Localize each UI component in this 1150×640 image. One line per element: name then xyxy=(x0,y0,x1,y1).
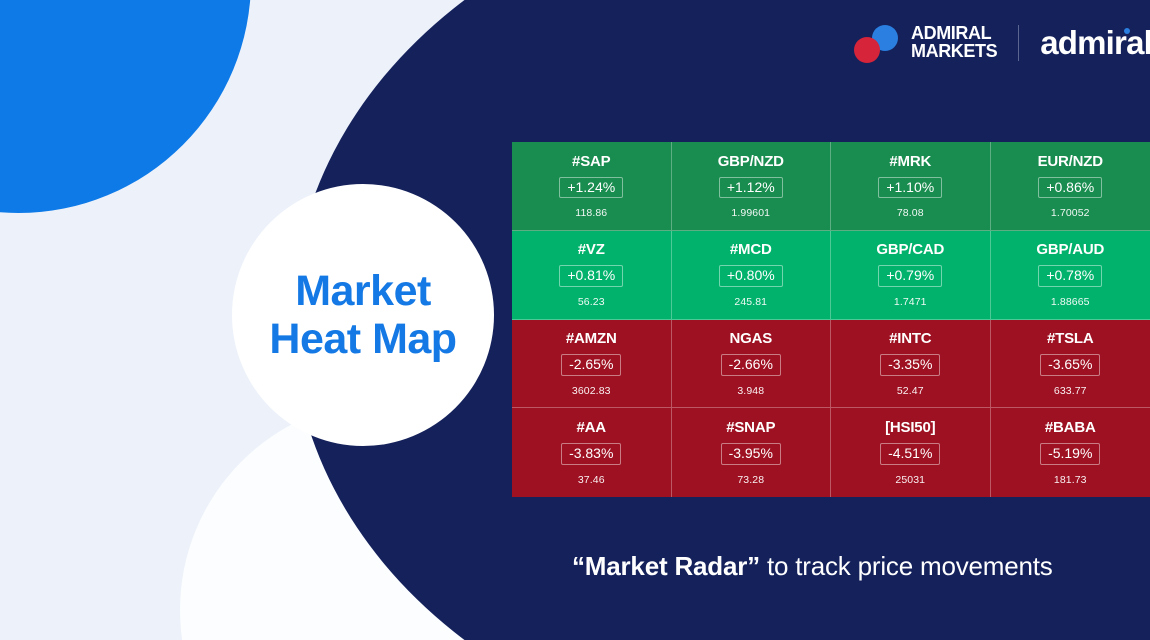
heatmap-cell-change-badge: -3.65% xyxy=(1040,354,1100,376)
heatmap-cell-symbol: GBP/AUD xyxy=(1036,241,1104,258)
caption: “Market Radar” to track price movements xyxy=(572,551,1053,582)
heatmap-cell-symbol: #MRK xyxy=(889,153,931,170)
heatmap-cell[interactable]: GBP/AUD+0.78%1.88665 xyxy=(991,231,1150,320)
heatmap-cell-symbol: #SNAP xyxy=(726,419,775,436)
logo-line-2: MARKETS xyxy=(911,41,997,61)
heatmap-cell-price: 73.28 xyxy=(737,474,764,486)
heatmap-cell-change-badge: -4.51% xyxy=(880,443,940,465)
heatmap-cell-price: 181.73 xyxy=(1054,474,1087,486)
heatmap-cell-price: 1.70052 xyxy=(1051,207,1090,219)
heatmap-cell-price: 3.948 xyxy=(737,385,764,397)
heatmap-cell[interactable]: #SNAP-3.95%73.28 xyxy=(672,408,832,497)
heatmap-cell-price: 245.81 xyxy=(734,296,767,308)
background-blue-circle-decoration xyxy=(0,0,251,213)
heatmap-cell-change-badge: -2.65% xyxy=(561,354,621,376)
admiral-markets-dots-icon xyxy=(852,25,902,61)
heatmap-cell[interactable]: #BABA-5.19%181.73 xyxy=(991,408,1150,497)
heatmap-cell-symbol: EUR/NZD xyxy=(1038,153,1103,170)
heatmap-cell-price: 633.77 xyxy=(1054,385,1087,397)
heatmap-cell-change-badge: +0.81% xyxy=(559,265,623,287)
heatmap-cell[interactable]: [HSI50]-4.51%25031 xyxy=(831,408,991,497)
brand-logo: ADMIRAL MARKETS admirals xyxy=(852,22,1150,64)
heatmap-cell[interactable]: #TSLA-3.65%633.77 xyxy=(991,320,1150,409)
heatmap-cell-change-badge: +0.79% xyxy=(878,265,942,287)
heatmap-cell[interactable]: #SAP+1.24%118.86 xyxy=(512,142,672,231)
heatmap-cell[interactable]: #MCD+0.80%245.81 xyxy=(672,231,832,320)
admiral-markets-wordmark: ADMIRAL MARKETS xyxy=(911,25,997,60)
heatmap-cell-symbol: #MCD xyxy=(730,241,772,258)
heatmap-cell-change-badge: +1.12% xyxy=(719,177,783,199)
heatmap-cell-change-badge: +0.86% xyxy=(1038,177,1102,199)
heatmap-cell-change-badge: -2.66% xyxy=(721,354,781,376)
heatmap-cell-symbol: GBP/NZD xyxy=(718,153,784,170)
heatmap-cell-symbol: [HSI50] xyxy=(885,419,935,436)
title-bubble: Market Heat Map xyxy=(232,184,494,446)
heatmap-cell-price: 1.7471 xyxy=(894,296,927,308)
heatmap-cell-price: 78.08 xyxy=(897,207,924,219)
heatmap-cell-price: 118.86 xyxy=(575,207,607,219)
heatmap-cell-symbol: #AMZN xyxy=(566,330,617,347)
heatmap-cell[interactable]: #MRK+1.10%78.08 xyxy=(831,142,991,231)
heatmap-cell-price: 52.47 xyxy=(897,385,924,397)
heatmap-cell-change-badge: -3.83% xyxy=(561,443,621,465)
heatmap-cell-change-badge: +0.80% xyxy=(719,265,783,287)
heatmap-cell-change-badge: +1.24% xyxy=(559,177,623,199)
heatmap-cell[interactable]: #AMZN-2.65%3602.83 xyxy=(512,320,672,409)
heatmap-cell-price: 3602.83 xyxy=(572,385,611,397)
heatmap-cell-symbol: #VZ xyxy=(578,241,605,258)
heatmap-cell-symbol: #TSLA xyxy=(1047,330,1094,347)
heatmap-cell[interactable]: #VZ+0.81%56.23 xyxy=(512,231,672,320)
heatmap-cell[interactable]: GBP/NZD+1.12%1.99601 xyxy=(672,142,832,231)
heatmap-cell-symbol: #INTC xyxy=(889,330,931,347)
market-heat-map-grid: #SAP+1.24%118.86GBP/NZD+1.12%1.99601#MRK… xyxy=(512,142,1150,497)
heatmap-cell-change-badge: +0.78% xyxy=(1038,265,1102,287)
heatmap-cell-change-badge: -3.95% xyxy=(721,443,781,465)
heatmap-cell-price: 56.23 xyxy=(578,296,605,308)
heatmap-cell-price: 25031 xyxy=(895,474,925,486)
heatmap-cell-change-badge: -5.19% xyxy=(1040,443,1100,465)
heatmap-cell[interactable]: #INTC-3.35%52.47 xyxy=(831,320,991,409)
caption-quoted: “Market Radar” xyxy=(572,551,760,581)
page-title: Market Heat Map xyxy=(269,267,456,363)
promo-banner: ADMIRAL MARKETS admirals Market Heat Map… xyxy=(0,0,1150,640)
heatmap-cell[interactable]: EUR/NZD+0.86%1.70052 xyxy=(991,142,1150,231)
heatmap-cell-symbol: #SAP xyxy=(572,153,610,170)
heatmap-cell-symbol: #BABA xyxy=(1045,419,1096,436)
heatmap-cell-price: 1.88665 xyxy=(1051,296,1090,308)
logo-divider xyxy=(1018,25,1019,61)
heatmap-cell[interactable]: GBP/CAD+0.79%1.7471 xyxy=(831,231,991,320)
admirals-wordmark: admirals xyxy=(1040,24,1150,62)
heatmap-cell-change-badge: -3.35% xyxy=(880,354,940,376)
heatmap-cell-price: 1.99601 xyxy=(731,207,770,219)
admirals-text: admirals xyxy=(1040,24,1150,61)
caption-rest: to track price movements xyxy=(760,551,1053,581)
heatmap-cell[interactable]: #AA-3.83%37.46 xyxy=(512,408,672,497)
heatmap-cell[interactable]: NGAS-2.66%3.948 xyxy=(672,320,832,409)
heatmap-cell-symbol: GBP/CAD xyxy=(876,241,944,258)
logo-red-dot-icon xyxy=(854,37,880,63)
heatmap-cell-change-badge: +1.10% xyxy=(878,177,942,199)
heatmap-cell-symbol: NGAS xyxy=(729,330,772,347)
heatmap-cell-symbol: #AA xyxy=(577,419,606,436)
heatmap-cell-price: 37.46 xyxy=(578,474,605,486)
